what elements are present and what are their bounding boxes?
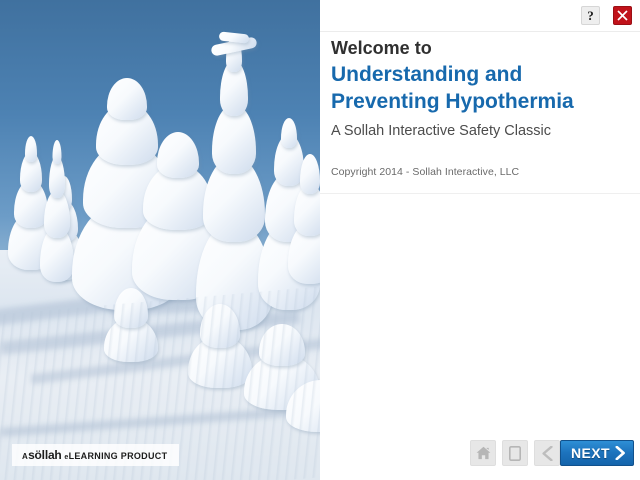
navigation-bar: NEXT xyxy=(320,440,640,472)
watermark-brand: söllah xyxy=(28,448,61,462)
help-button[interactable]: ? xyxy=(581,6,600,25)
notes-button[interactable] xyxy=(502,440,528,466)
course-subtitle: A Sollah Interactive Safety Classic xyxy=(331,122,631,141)
close-x-icon xyxy=(617,10,628,21)
snow-tree xyxy=(40,137,74,282)
close-button[interactable] xyxy=(613,6,632,25)
watermark-suffix: LEARNING PRODUCT xyxy=(69,451,168,461)
chevron-right-icon xyxy=(615,446,626,460)
content-divider xyxy=(320,193,640,194)
home-icon xyxy=(476,446,491,460)
notes-icon xyxy=(509,446,521,461)
snow-tree xyxy=(288,154,320,284)
content-panel: ? Welcome to Understanding and Preventin… xyxy=(320,0,640,480)
back-button[interactable] xyxy=(534,440,560,466)
sollah-watermark: Asöllah eLEARNING PRODUCT xyxy=(12,444,179,466)
chevron-left-icon xyxy=(542,446,553,461)
next-button[interactable]: NEXT xyxy=(560,440,634,466)
copyright-notice: Copyright 2014 - Sollah Interactive, LLC xyxy=(331,166,519,178)
course-title: Understanding and Preventing Hypothermia xyxy=(331,62,631,116)
window-controls-bar: ? xyxy=(320,0,640,32)
home-button[interactable] xyxy=(470,440,496,466)
course-player-window: Asöllah eLEARNING PRODUCT ? Welcome to U… xyxy=(0,0,640,480)
question-mark-icon: ? xyxy=(587,9,594,22)
next-button-label: NEXT xyxy=(571,445,610,461)
welcome-heading: Welcome to xyxy=(331,36,631,60)
title-block: Welcome to Understanding and Preventing … xyxy=(331,36,631,141)
course-hero-image: Asöllah eLEARNING PRODUCT xyxy=(0,0,320,480)
